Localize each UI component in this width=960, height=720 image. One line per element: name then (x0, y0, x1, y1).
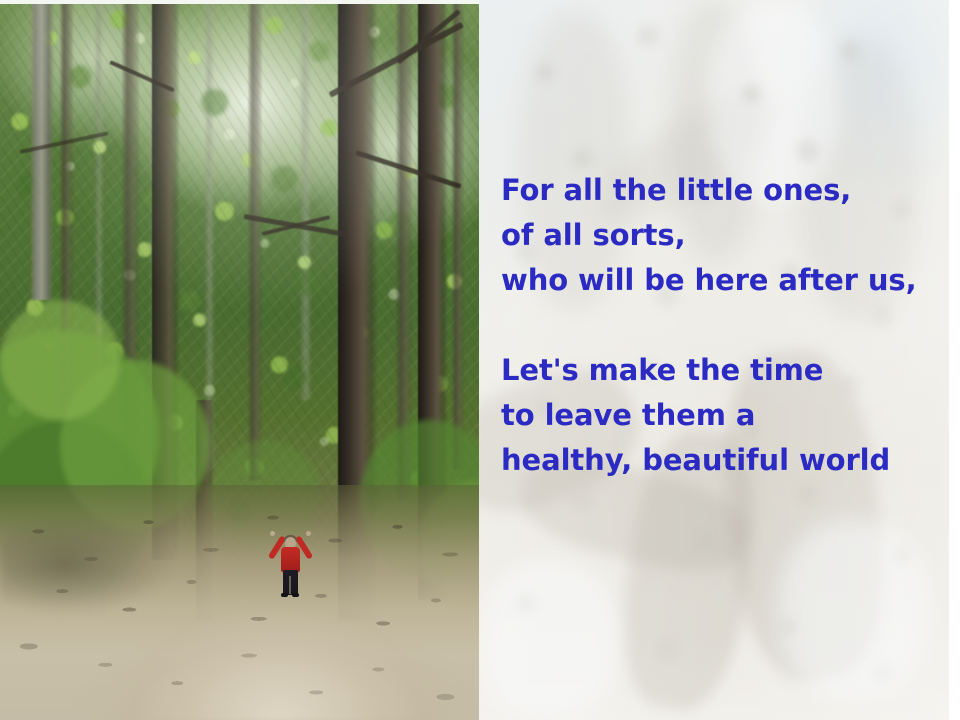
child-shoe-left (281, 593, 288, 597)
poem-line: Let's make the time (501, 348, 931, 393)
stanza-separator (501, 303, 931, 348)
slide: For all the little ones, of all sorts, w… (0, 0, 960, 720)
shrub (0, 300, 120, 420)
poem-line: to leave them a (501, 393, 931, 438)
forest-photo (0, 0, 479, 720)
poem-line: who will be here after us, (501, 258, 931, 303)
child-hand-left (270, 531, 275, 536)
child-hand-right (306, 531, 311, 536)
mid-trunk (452, 0, 464, 470)
mid-trunk (248, 0, 262, 480)
poem-line: of all sorts, (501, 213, 931, 258)
right-margin (949, 0, 960, 720)
poem-panel: For all the little ones, of all sorts, w… (479, 0, 960, 720)
child-shoe-right (292, 593, 299, 597)
poem-text: For all the little ones, of all sorts, w… (501, 168, 931, 483)
poem-line: For all the little ones, (501, 168, 931, 213)
child-leg-gap (289, 576, 291, 594)
photo-top-border (0, 0, 479, 4)
child-figure (262, 524, 318, 600)
poem-line: healthy, beautiful world (501, 438, 931, 483)
child-red-jacket (281, 547, 300, 572)
leaf-litter (0, 490, 479, 720)
